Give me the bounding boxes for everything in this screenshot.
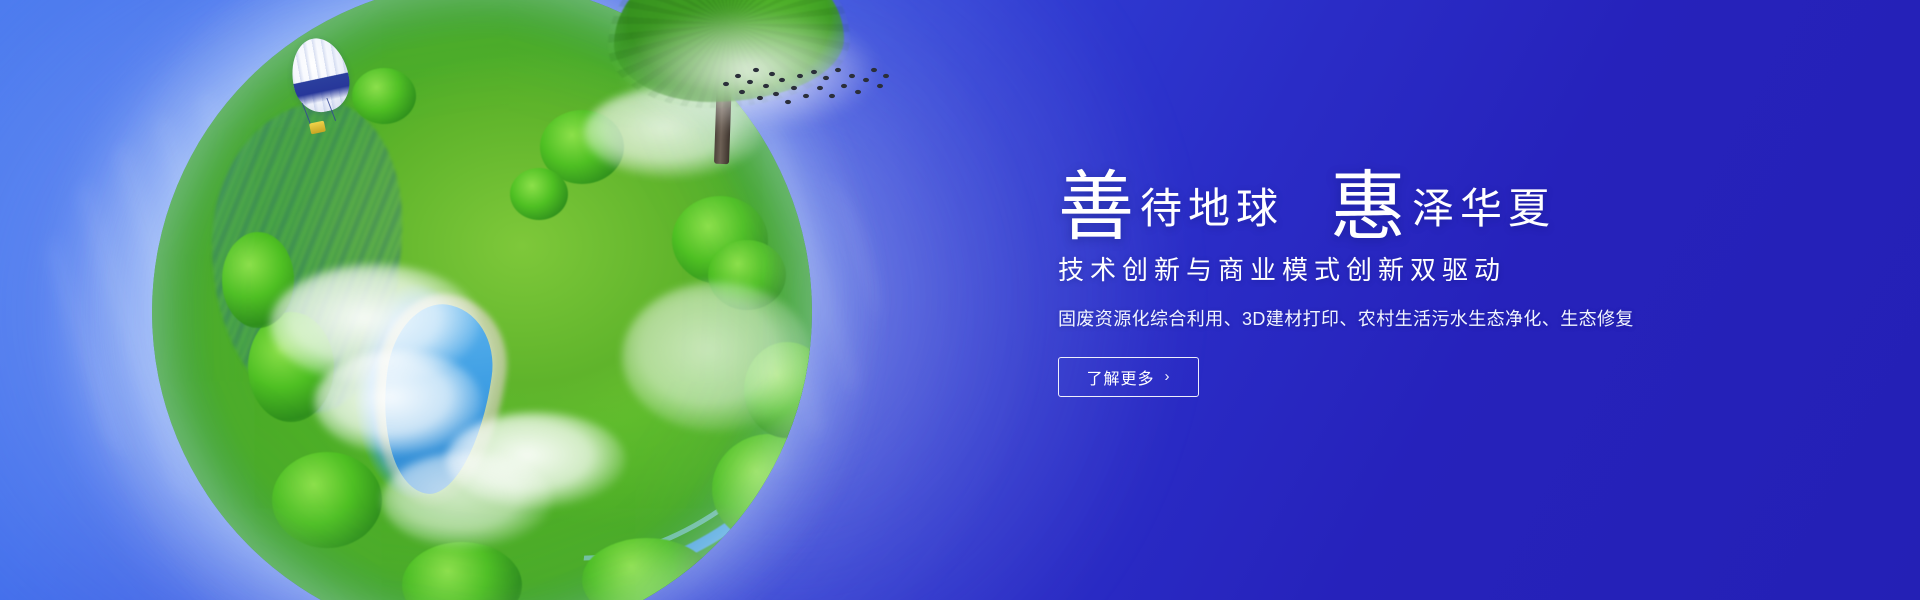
headline-phrase2-rest: 泽华夏 [1406, 188, 1556, 230]
globe-illustration [152, 0, 812, 600]
headline-phrase1-rest: 待地球 [1134, 188, 1284, 230]
hero-banner: 善 待地球 惠 泽华夏 技术创新与商业模式创新双驱动 固废资源化综合利用、3D建… [0, 0, 1920, 600]
banner-content: 善 待地球 惠 泽华夏 技术创新与商业模式创新双驱动 固废资源化综合利用、3D建… [1058, 150, 1798, 397]
headline-phrase1-emphasis: 善 [1058, 172, 1134, 242]
headline: 善 待地球 惠 泽华夏 [1058, 150, 1798, 236]
banner-description: 固废资源化综合利用、3D建材打印、农村生活污水生态净化、生态修复 [1058, 305, 1798, 331]
banner-subtitle: 技术创新与商业模式创新双驱动 [1058, 250, 1798, 287]
headline-phrase2-emphasis: 惠 [1330, 172, 1406, 242]
chevron-right-icon: › [1165, 369, 1171, 384]
learn-more-label: 了解更多 [1086, 365, 1154, 389]
balloon-basket [309, 121, 326, 135]
birds-flock-icon [716, 58, 892, 120]
learn-more-button[interactable]: 了解更多 › [1058, 357, 1199, 397]
hot-air-balloon-icon [292, 38, 354, 150]
